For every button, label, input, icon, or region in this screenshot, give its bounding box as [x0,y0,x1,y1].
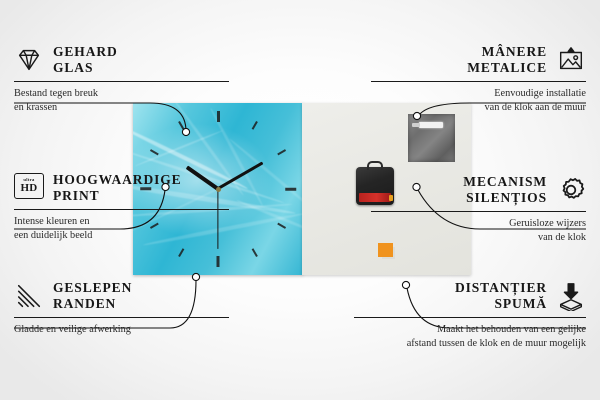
feature-manere-metalice: MÂNEREMETALICE Eenvoudige installatie va… [371,44,586,114]
feature-title: HOOGWAARDIGEPRINT [53,172,182,204]
feature-description: Bestand tegen breuk en krassen [14,87,229,114]
ultra-hd-icon: ultra HD [14,173,44,203]
infographic-canvas: GEHARDGLAS Bestand tegen breuk en krasse… [0,0,600,400]
feature-description: Geruisloze wijzers van de klok [371,217,586,244]
gear-icon [556,175,586,205]
feature-description: Intense kleuren en een duidelijk beeld [14,215,229,242]
beveled-edge-icon [14,281,44,311]
feature-geslepen-randen: GESLEPENRANDEN Gladde en veilige afwerki… [14,280,229,337]
divider [14,81,229,82]
feature-title: GEHARDGLAS [53,44,118,76]
divider [354,317,586,318]
feature-hoogwaardige-print: ultra HD HOOGWAARDIGEPRINT Intense kleur… [14,172,229,242]
feature-title: MÂNEREMETALICE [467,44,547,76]
hanging-frame-icon [556,45,586,75]
divider [14,209,229,210]
divider [14,317,229,318]
feature-title: MECANISMSILENȚIOS [463,174,547,206]
feature-distantier-spuma: DISTANȚIERSPUMĂ Maakt het behouden van e… [354,280,586,350]
divider [371,211,586,212]
feature-gehard-glas: GEHARDGLAS Bestand tegen breuk en krasse… [14,44,229,114]
metal-hanger-plate [408,114,455,162]
feature-mecanism-silentios: MECANISMSILENȚIOS Geruisloze wijzers van… [371,174,586,244]
foam-spacer [378,243,393,257]
feature-title: GESLEPENRANDEN [53,280,132,312]
feature-description: Eenvoudige installatie van de klok aan d… [371,87,586,114]
feature-title: DISTANȚIERSPUMĂ [455,280,547,312]
press-down-pad-icon [556,281,586,311]
diamond-icon [14,45,44,75]
divider [371,81,586,82]
feature-description: Gladde en veilige afwerking [14,323,229,337]
feature-description: Maakt het behouden van een gelijke afsta… [354,323,586,350]
